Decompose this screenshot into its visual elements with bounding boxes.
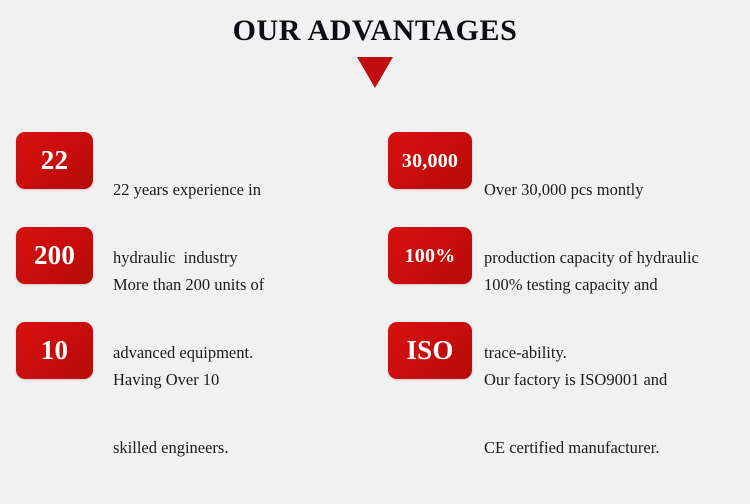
- advantage-badge: 100%: [388, 227, 472, 284]
- advantage-badge-label: ISO: [406, 337, 453, 364]
- advantage-badge-label: 22: [41, 147, 68, 174]
- advantage-description-line: 100% testing capacity and: [484, 274, 744, 297]
- advantage-item: 200 More than 200 units of advanced equi…: [16, 219, 376, 314]
- advantage-description: Having Over 10 skilled engineers.: [113, 324, 378, 504]
- advantage-badge: ISO: [388, 322, 472, 379]
- advantage-description-line: CE certified manufacturer.: [484, 437, 744, 460]
- advantage-description: Our factory is ISO9001 and CE certified …: [484, 324, 744, 504]
- page-title: OUR ADVANTAGES: [0, 14, 750, 48]
- triangle-down-icon: [357, 57, 393, 88]
- advantage-badge: 22: [16, 132, 93, 189]
- advantage-badge: 30,000: [388, 132, 472, 189]
- advantage-description-line: Our factory is ISO9001 and: [484, 369, 744, 392]
- advantage-item: 22 22 years experience in hydraulic indu…: [16, 124, 376, 219]
- advantage-description-line: 22 years experience in: [113, 179, 378, 202]
- advantages-column-left: 22 22 years experience in hydraulic indu…: [16, 124, 376, 409]
- page-header: OUR ADVANTAGES: [0, 14, 750, 88]
- advantage-description-line: Having Over 10: [113, 369, 378, 392]
- advantage-badge-label: 100%: [405, 246, 456, 266]
- advantage-description-line: Over 30,000 pcs montly: [484, 179, 744, 202]
- advantage-badge: 10: [16, 322, 93, 379]
- advantages-column-right: 30,000 Over 30,000 pcs montly production…: [388, 124, 738, 409]
- advantage-badge-label: 200: [34, 242, 75, 269]
- advantage-item: 10 Having Over 10 skilled engineers.: [16, 314, 376, 409]
- advantage-badge-label: 30,000: [402, 151, 458, 171]
- advantage-item: 100% 100% testing capacity and trace-abi…: [388, 219, 738, 314]
- advantage-item: ISO Our factory is ISO9001 and CE certif…: [388, 314, 738, 409]
- advantages-page: OUR ADVANTAGES 22 22 years experience in…: [0, 0, 750, 420]
- advantage-description-line: More than 200 units of: [113, 274, 378, 297]
- advantage-description-line: skilled engineers.: [113, 437, 378, 460]
- advantage-item: 30,000 Over 30,000 pcs montly production…: [388, 124, 738, 219]
- advantage-badge: 200: [16, 227, 93, 284]
- advantage-badge-label: 10: [41, 337, 68, 364]
